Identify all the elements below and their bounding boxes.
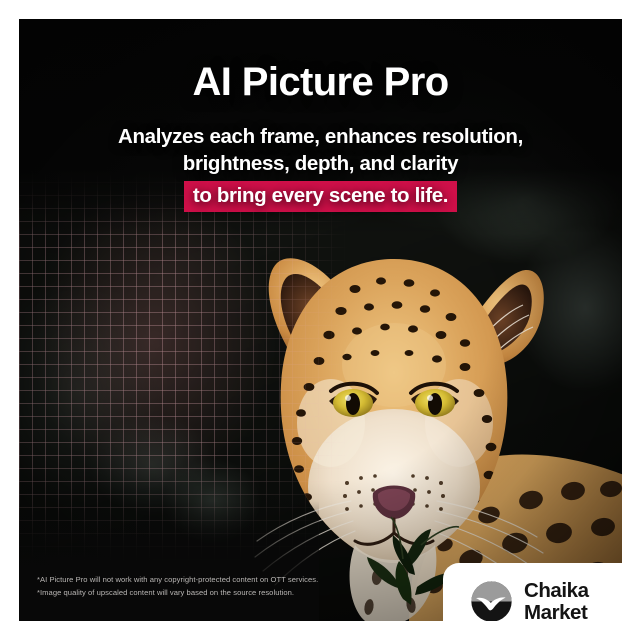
disclaimer-scrim — [19, 501, 319, 621]
page-title: AI Picture Pro — [19, 61, 622, 103]
subcopy-line-1: Analyzes each frame, enhances resolution… — [19, 124, 622, 151]
seagull-circle-icon — [470, 580, 513, 621]
highlight-chip: to bring every scene to life. — [184, 181, 457, 212]
brand-name-line-1: Chaika — [524, 580, 589, 602]
subcopy: Analyzes each frame, enhances resolution… — [19, 124, 622, 212]
ad-creative-canvas: AI Picture Pro Analyzes each frame, enha… — [19, 19, 622, 621]
brand-logo-badge[interactable]: Chaika Market — [443, 563, 622, 621]
brand-name: Chaika Market — [524, 580, 589, 621]
brand-name-line-2: Market — [524, 602, 589, 622]
subcopy-highlight-line: to bring every scene to life. — [19, 181, 622, 212]
subcopy-line-2: brightness, depth, and clarity — [19, 151, 622, 178]
disclaimer-line-1: *AI Picture Pro will not work with any c… — [37, 574, 367, 586]
headline-block: AI Picture Pro Analyzes each frame, enha… — [19, 61, 622, 212]
disclaimer-line-2: *Image quality of upscaled content will … — [37, 587, 367, 599]
